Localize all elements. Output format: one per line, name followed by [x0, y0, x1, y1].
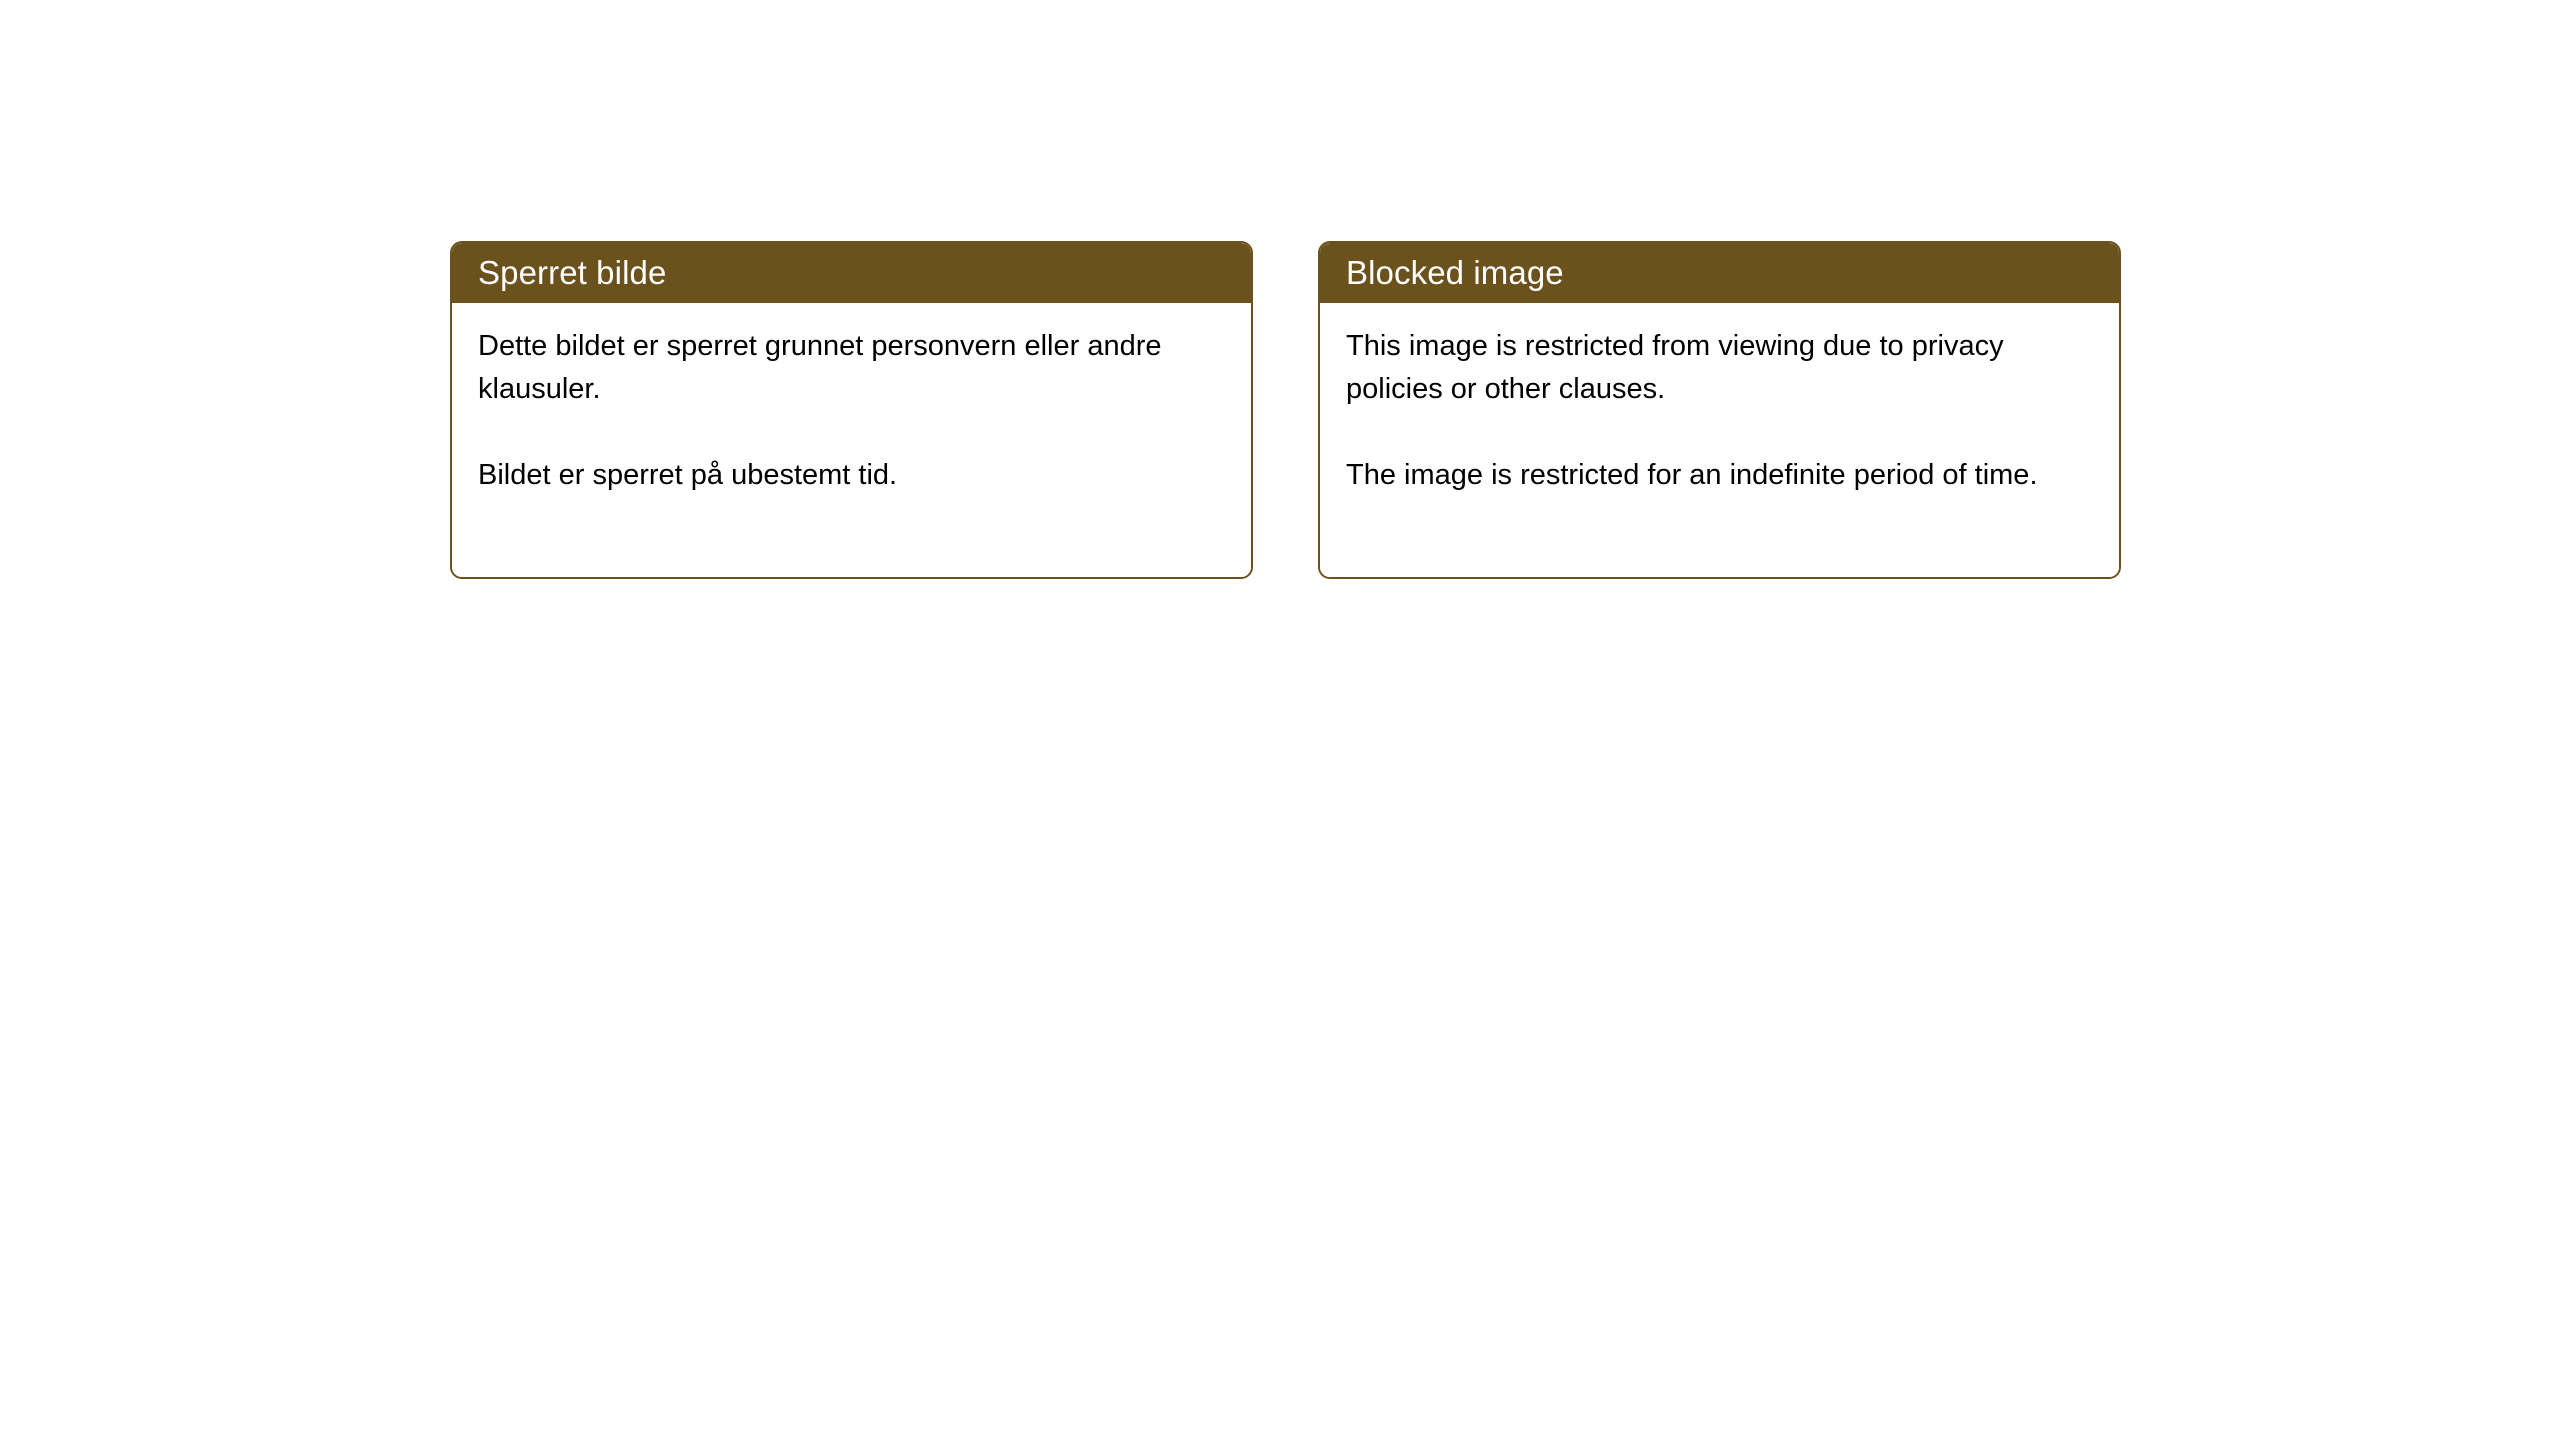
notice-paragraph-primary-no: Dette bildet er sperret grunnet personve… [478, 325, 1225, 411]
notice-paragraph-primary-en: This image is restricted from viewing du… [1346, 325, 2093, 411]
blocked-image-notice-no: Sperret bilde Dette bildet er sperret gr… [450, 241, 1253, 579]
notice-paragraph-secondary-no: Bildet er sperret på ubestemt tid. [478, 454, 1225, 497]
notice-card-group: Sperret bilde Dette bildet er sperret gr… [450, 241, 2121, 579]
notice-header-no: Sperret bilde [452, 243, 1251, 303]
notice-body-no: Dette bildet er sperret grunnet personve… [452, 303, 1251, 577]
notice-body-en: This image is restricted from viewing du… [1320, 303, 2119, 577]
page-canvas: Sperret bilde Dette bildet er sperret gr… [0, 0, 2560, 1440]
notice-title-en: Blocked image [1346, 255, 1564, 291]
notice-paragraph-secondary-en: The image is restricted for an indefinit… [1346, 454, 2093, 497]
notice-title-no: Sperret bilde [478, 255, 666, 291]
notice-header-en: Blocked image [1320, 243, 2119, 303]
blocked-image-notice-en: Blocked image This image is restricted f… [1318, 241, 2121, 579]
